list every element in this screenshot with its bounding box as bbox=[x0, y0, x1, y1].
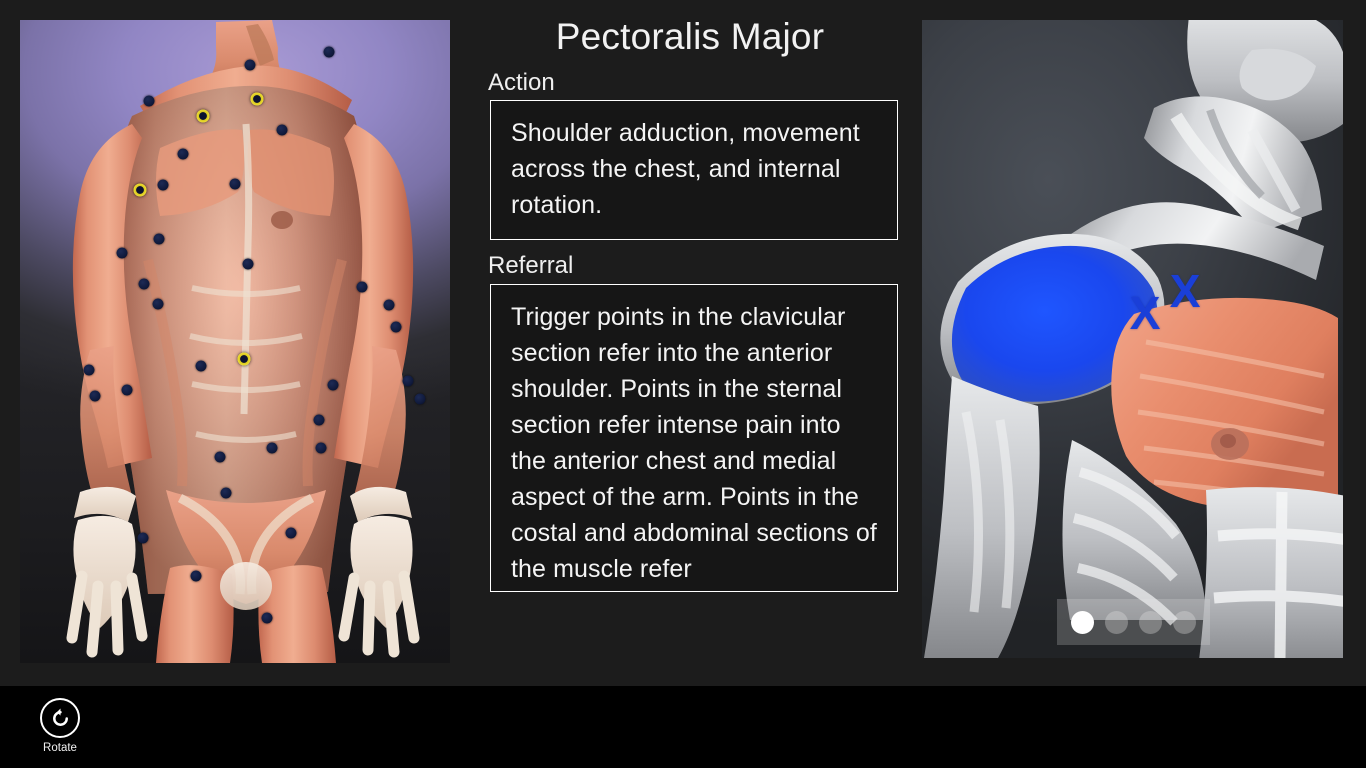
trigger-point-marker[interactable] bbox=[266, 442, 277, 453]
anatomy-figure-panel[interactable] bbox=[20, 20, 450, 663]
trigger-point-marker[interactable] bbox=[285, 528, 296, 539]
trigger-point-marker-selected[interactable] bbox=[196, 109, 209, 122]
trigger-point-marker[interactable] bbox=[191, 571, 202, 582]
trigger-point-marker-selected[interactable] bbox=[250, 93, 263, 106]
trigger-point-marker[interactable] bbox=[177, 148, 188, 159]
trigger-point-marker[interactable] bbox=[153, 234, 164, 245]
trigger-point-marker[interactable] bbox=[403, 376, 414, 387]
referral-image-panel[interactable]: XX bbox=[922, 20, 1343, 658]
action-label: Action bbox=[488, 69, 910, 97]
trigger-point-marker[interactable] bbox=[391, 322, 402, 333]
page-title: Pectoralis Major bbox=[470, 18, 910, 57]
trigger-point-marker[interactable] bbox=[316, 442, 327, 453]
trigger-point-marker[interactable] bbox=[90, 391, 101, 402]
trigger-point-x-marker[interactable]: X bbox=[1170, 268, 1201, 314]
trigger-point-marker[interactable] bbox=[383, 299, 394, 310]
app-root: Pectoralis Major Action Shoulder adducti… bbox=[0, 0, 1366, 768]
trigger-point-marker-selected[interactable] bbox=[237, 352, 250, 365]
pagination-dot[interactable] bbox=[1173, 611, 1196, 634]
trigger-point-x-marker[interactable]: X bbox=[1130, 290, 1161, 336]
trigger-point-marker[interactable] bbox=[117, 248, 128, 259]
pagination-dot[interactable] bbox=[1139, 611, 1162, 634]
trigger-point-marker-selected[interactable] bbox=[133, 183, 146, 196]
app-bar: Rotate ListMusclesZones bbox=[0, 686, 1366, 768]
trigger-point-marker[interactable] bbox=[214, 452, 225, 463]
trigger-point-marker[interactable] bbox=[152, 299, 163, 310]
trigger-point-marker[interactable] bbox=[230, 178, 241, 189]
trigger-point-marker[interactable] bbox=[277, 124, 288, 135]
trigger-point-marker[interactable] bbox=[195, 360, 206, 371]
referral-text: Trigger points in the clavicular section… bbox=[511, 299, 879, 587]
referral-box[interactable]: Trigger points in the clavicular section… bbox=[490, 284, 898, 592]
action-box: Shoulder adduction, movement across the … bbox=[490, 100, 898, 240]
trigger-point-marker[interactable] bbox=[328, 380, 339, 391]
rotate-label: Rotate bbox=[33, 742, 87, 756]
trigger-point-marker[interactable] bbox=[138, 278, 149, 289]
trigger-point-marker[interactable] bbox=[414, 394, 425, 405]
trigger-point-marker[interactable] bbox=[144, 96, 155, 107]
trigger-point-marker[interactable] bbox=[245, 60, 256, 71]
trigger-point-marker[interactable] bbox=[313, 414, 324, 425]
trigger-point-marker[interactable] bbox=[83, 365, 94, 376]
trigger-point-marker[interactable] bbox=[323, 47, 334, 58]
info-column: Pectoralis Major Action Shoulder adducti… bbox=[470, 0, 910, 686]
pagination-dot[interactable] bbox=[1071, 611, 1094, 634]
trigger-point-marker[interactable] bbox=[356, 281, 367, 292]
trigger-point-marker[interactable] bbox=[221, 487, 232, 498]
rotate-button[interactable]: Rotate bbox=[33, 698, 87, 756]
trigger-point-marker[interactable] bbox=[262, 612, 273, 623]
trigger-point-marker[interactable] bbox=[137, 532, 148, 543]
image-pagination[interactable] bbox=[1057, 599, 1210, 645]
anatomy-illustration bbox=[20, 20, 450, 663]
referral-label: Referral bbox=[488, 252, 910, 280]
rotate-icon bbox=[40, 698, 80, 738]
action-text: Shoulder adduction, movement across the … bbox=[511, 115, 879, 223]
pagination-dot[interactable] bbox=[1105, 611, 1128, 634]
trigger-point-marker[interactable] bbox=[121, 384, 132, 395]
trigger-point-marker[interactable] bbox=[158, 180, 169, 191]
trigger-point-marker[interactable] bbox=[242, 259, 253, 270]
